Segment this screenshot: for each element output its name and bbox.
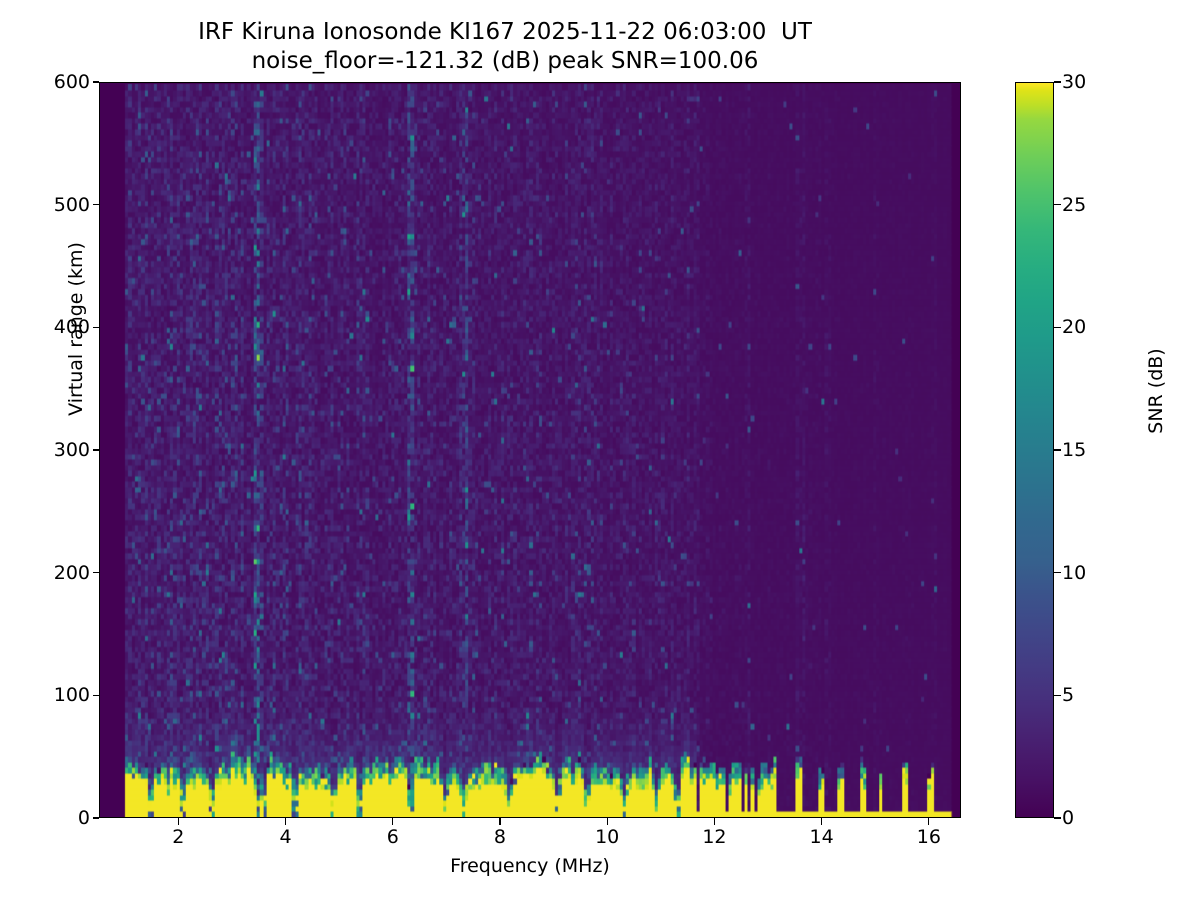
y-tick-label: 500: [0, 194, 90, 216]
x-tick-mark: [499, 818, 500, 825]
title-line-2: noise_floor=-121.32 (dB) peak SNR=100.06: [0, 47, 1010, 76]
title-line-1: IRF Kiruna Ionosonde KI167 2025-11-22 06…: [0, 18, 1010, 47]
x-tick-label: 16: [889, 826, 969, 848]
x-tick-mark: [178, 818, 179, 825]
x-tick-label: 12: [674, 826, 754, 848]
colorbar-tick-mark: [1054, 572, 1061, 573]
ionogram-heatmap: [100, 83, 960, 817]
x-tick-mark: [607, 818, 608, 825]
colorbar-tick-mark: [1054, 695, 1061, 696]
y-tick-mark: [93, 204, 100, 205]
y-tick-mark: [93, 449, 100, 450]
x-tick-label: 6: [353, 826, 433, 848]
colorbar-tick-label: 15: [1062, 439, 1132, 461]
colorbar-tick-label: 30: [1062, 71, 1132, 93]
x-axis-label: Frequency (MHz): [99, 855, 961, 877]
colorbar-tick-label: 25: [1062, 194, 1132, 216]
y-tick-label: 300: [0, 439, 90, 461]
x-tick-label: 2: [138, 826, 218, 848]
colorbar-tick-mark: [1054, 817, 1061, 818]
y-tick-label: 100: [0, 684, 90, 706]
colorbar-tick-mark: [1054, 449, 1061, 450]
x-tick-mark: [928, 818, 929, 825]
x-tick-label: 4: [246, 826, 326, 848]
x-tick-label: 8: [460, 826, 540, 848]
x-tick-label: 10: [567, 826, 647, 848]
colorbar-tick-label: 5: [1062, 684, 1132, 706]
colorbar-label: SNR (dB): [1145, 251, 1167, 531]
y-tick-label: 400: [0, 316, 90, 338]
ionogram-figure: IRF Kiruna Ionosonde KI167 2025-11-22 06…: [0, 0, 1200, 900]
y-tick-mark: [93, 695, 100, 696]
colorbar: [1015, 82, 1054, 818]
y-tick-label: 0: [0, 807, 90, 829]
colorbar-tick-label: 20: [1062, 316, 1132, 338]
x-tick-label: 14: [782, 826, 862, 848]
x-tick-mark: [392, 818, 393, 825]
ionogram-axes: [99, 82, 961, 818]
y-tick-mark: [93, 817, 100, 818]
y-tick-label: 600: [0, 71, 90, 93]
figure-title: IRF Kiruna Ionosonde KI167 2025-11-22 06…: [0, 18, 1010, 76]
colorbar-tick-mark: [1054, 81, 1061, 82]
colorbar-tick-mark: [1054, 327, 1061, 328]
colorbar-tick-label: 0: [1062, 807, 1132, 829]
y-tick-mark: [93, 572, 100, 573]
colorbar-tick-mark: [1054, 204, 1061, 205]
y-tick-mark: [93, 81, 100, 82]
colorbar-tick-label: 10: [1062, 562, 1132, 584]
y-tick-label: 200: [0, 562, 90, 584]
x-tick-mark: [821, 818, 822, 825]
x-tick-mark: [714, 818, 715, 825]
x-tick-mark: [285, 818, 286, 825]
y-tick-mark: [93, 327, 100, 328]
